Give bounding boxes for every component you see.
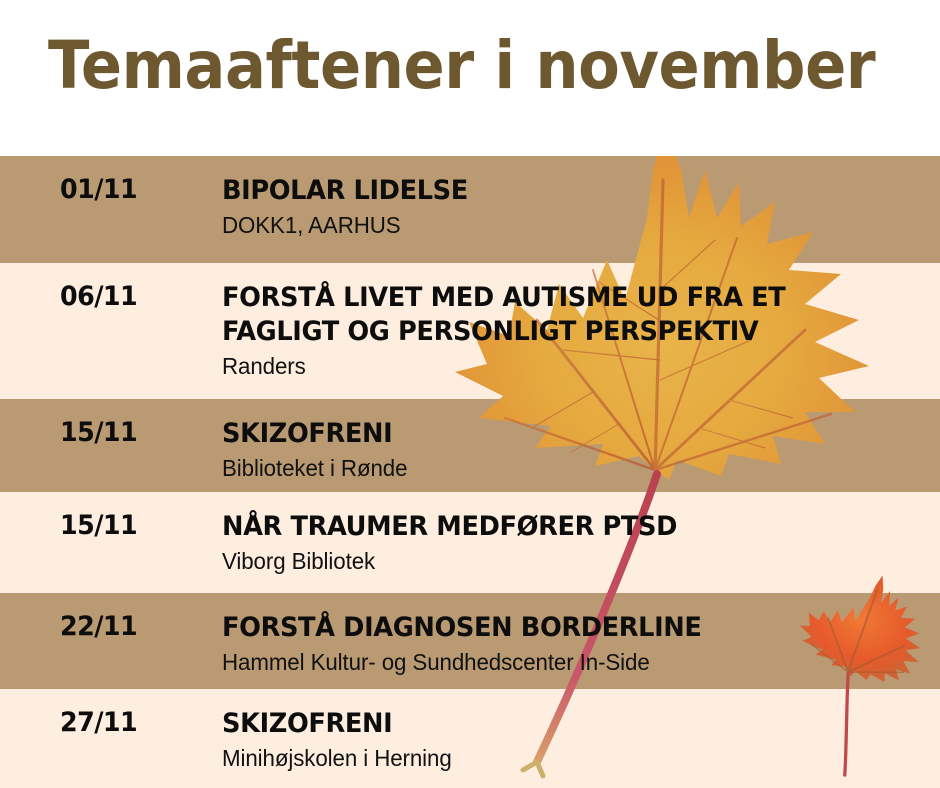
event-venue: Minihøjskolen i Herning <box>222 743 909 773</box>
event-date: 01/11 <box>60 174 137 205</box>
event-title: BIPOLAR LIDELSE <box>222 174 895 208</box>
event-row[interactable]: 15/11SKIZOFRENIBiblioteket i Rønde <box>0 399 940 492</box>
event-title: NÅR TRAUMER MEDFØRER PTSD <box>222 510 895 544</box>
event-date: 27/11 <box>60 707 137 738</box>
event-date: 06/11 <box>60 281 137 312</box>
event-details: FORSTÅ DIAGNOSEN BORDERLINEHammel Kultur… <box>222 611 930 677</box>
event-details: NÅR TRAUMER MEDFØRER PTSDViborg Bibliote… <box>222 510 930 576</box>
event-title: SKIZOFRENI <box>222 707 895 741</box>
event-title: FORSTÅ DIAGNOSEN BORDERLINE <box>222 611 895 645</box>
event-row[interactable]: 27/11SKIZOFRENIMinihøjskolen i Herning <box>0 689 940 788</box>
event-venue: DOKK1, AARHUS <box>222 210 909 240</box>
event-venue: Biblioteket i Rønde <box>222 453 909 483</box>
page-title: Temaaftener i november <box>48 28 875 104</box>
event-date: 22/11 <box>60 611 137 642</box>
event-title: SKIZOFRENI <box>222 417 895 451</box>
event-venue: Hammel Kultur- og Sundhedscenter In-Side <box>222 647 909 677</box>
event-row[interactable]: 06/11FORSTÅ LIVET MED AUTISME UD FRA ETF… <box>0 263 940 399</box>
event-date: 15/11 <box>60 510 137 541</box>
event-row[interactable]: 22/11FORSTÅ DIAGNOSEN BORDERLINEHammel K… <box>0 593 940 689</box>
event-venue: Viborg Bibliotek <box>222 546 909 576</box>
event-row[interactable]: 15/11NÅR TRAUMER MEDFØRER PTSDViborg Bib… <box>0 492 940 593</box>
event-details: BIPOLAR LIDELSEDOKK1, AARHUS <box>222 174 930 240</box>
event-row[interactable]: 01/11BIPOLAR LIDELSEDOKK1, AARHUS <box>0 156 940 263</box>
event-details: SKIZOFRENIBiblioteket i Rønde <box>222 417 930 483</box>
event-title: FORSTÅ LIVET MED AUTISME UD FRA ET <box>222 281 895 315</box>
poster-canvas: Temaaftener i november 01/11BIPOLAR LIDE… <box>0 0 940 788</box>
event-date: 15/11 <box>60 417 137 448</box>
event-details: SKIZOFRENIMinihøjskolen i Herning <box>222 707 930 773</box>
event-details: FORSTÅ LIVET MED AUTISME UD FRA ETFAGLIG… <box>222 281 930 381</box>
event-title-line2: FAGLIGT OG PERSONLIGT PERSPEKTIV <box>222 315 895 349</box>
event-venue: Randers <box>222 351 909 381</box>
poster-header: Temaaftener i november <box>0 0 940 156</box>
